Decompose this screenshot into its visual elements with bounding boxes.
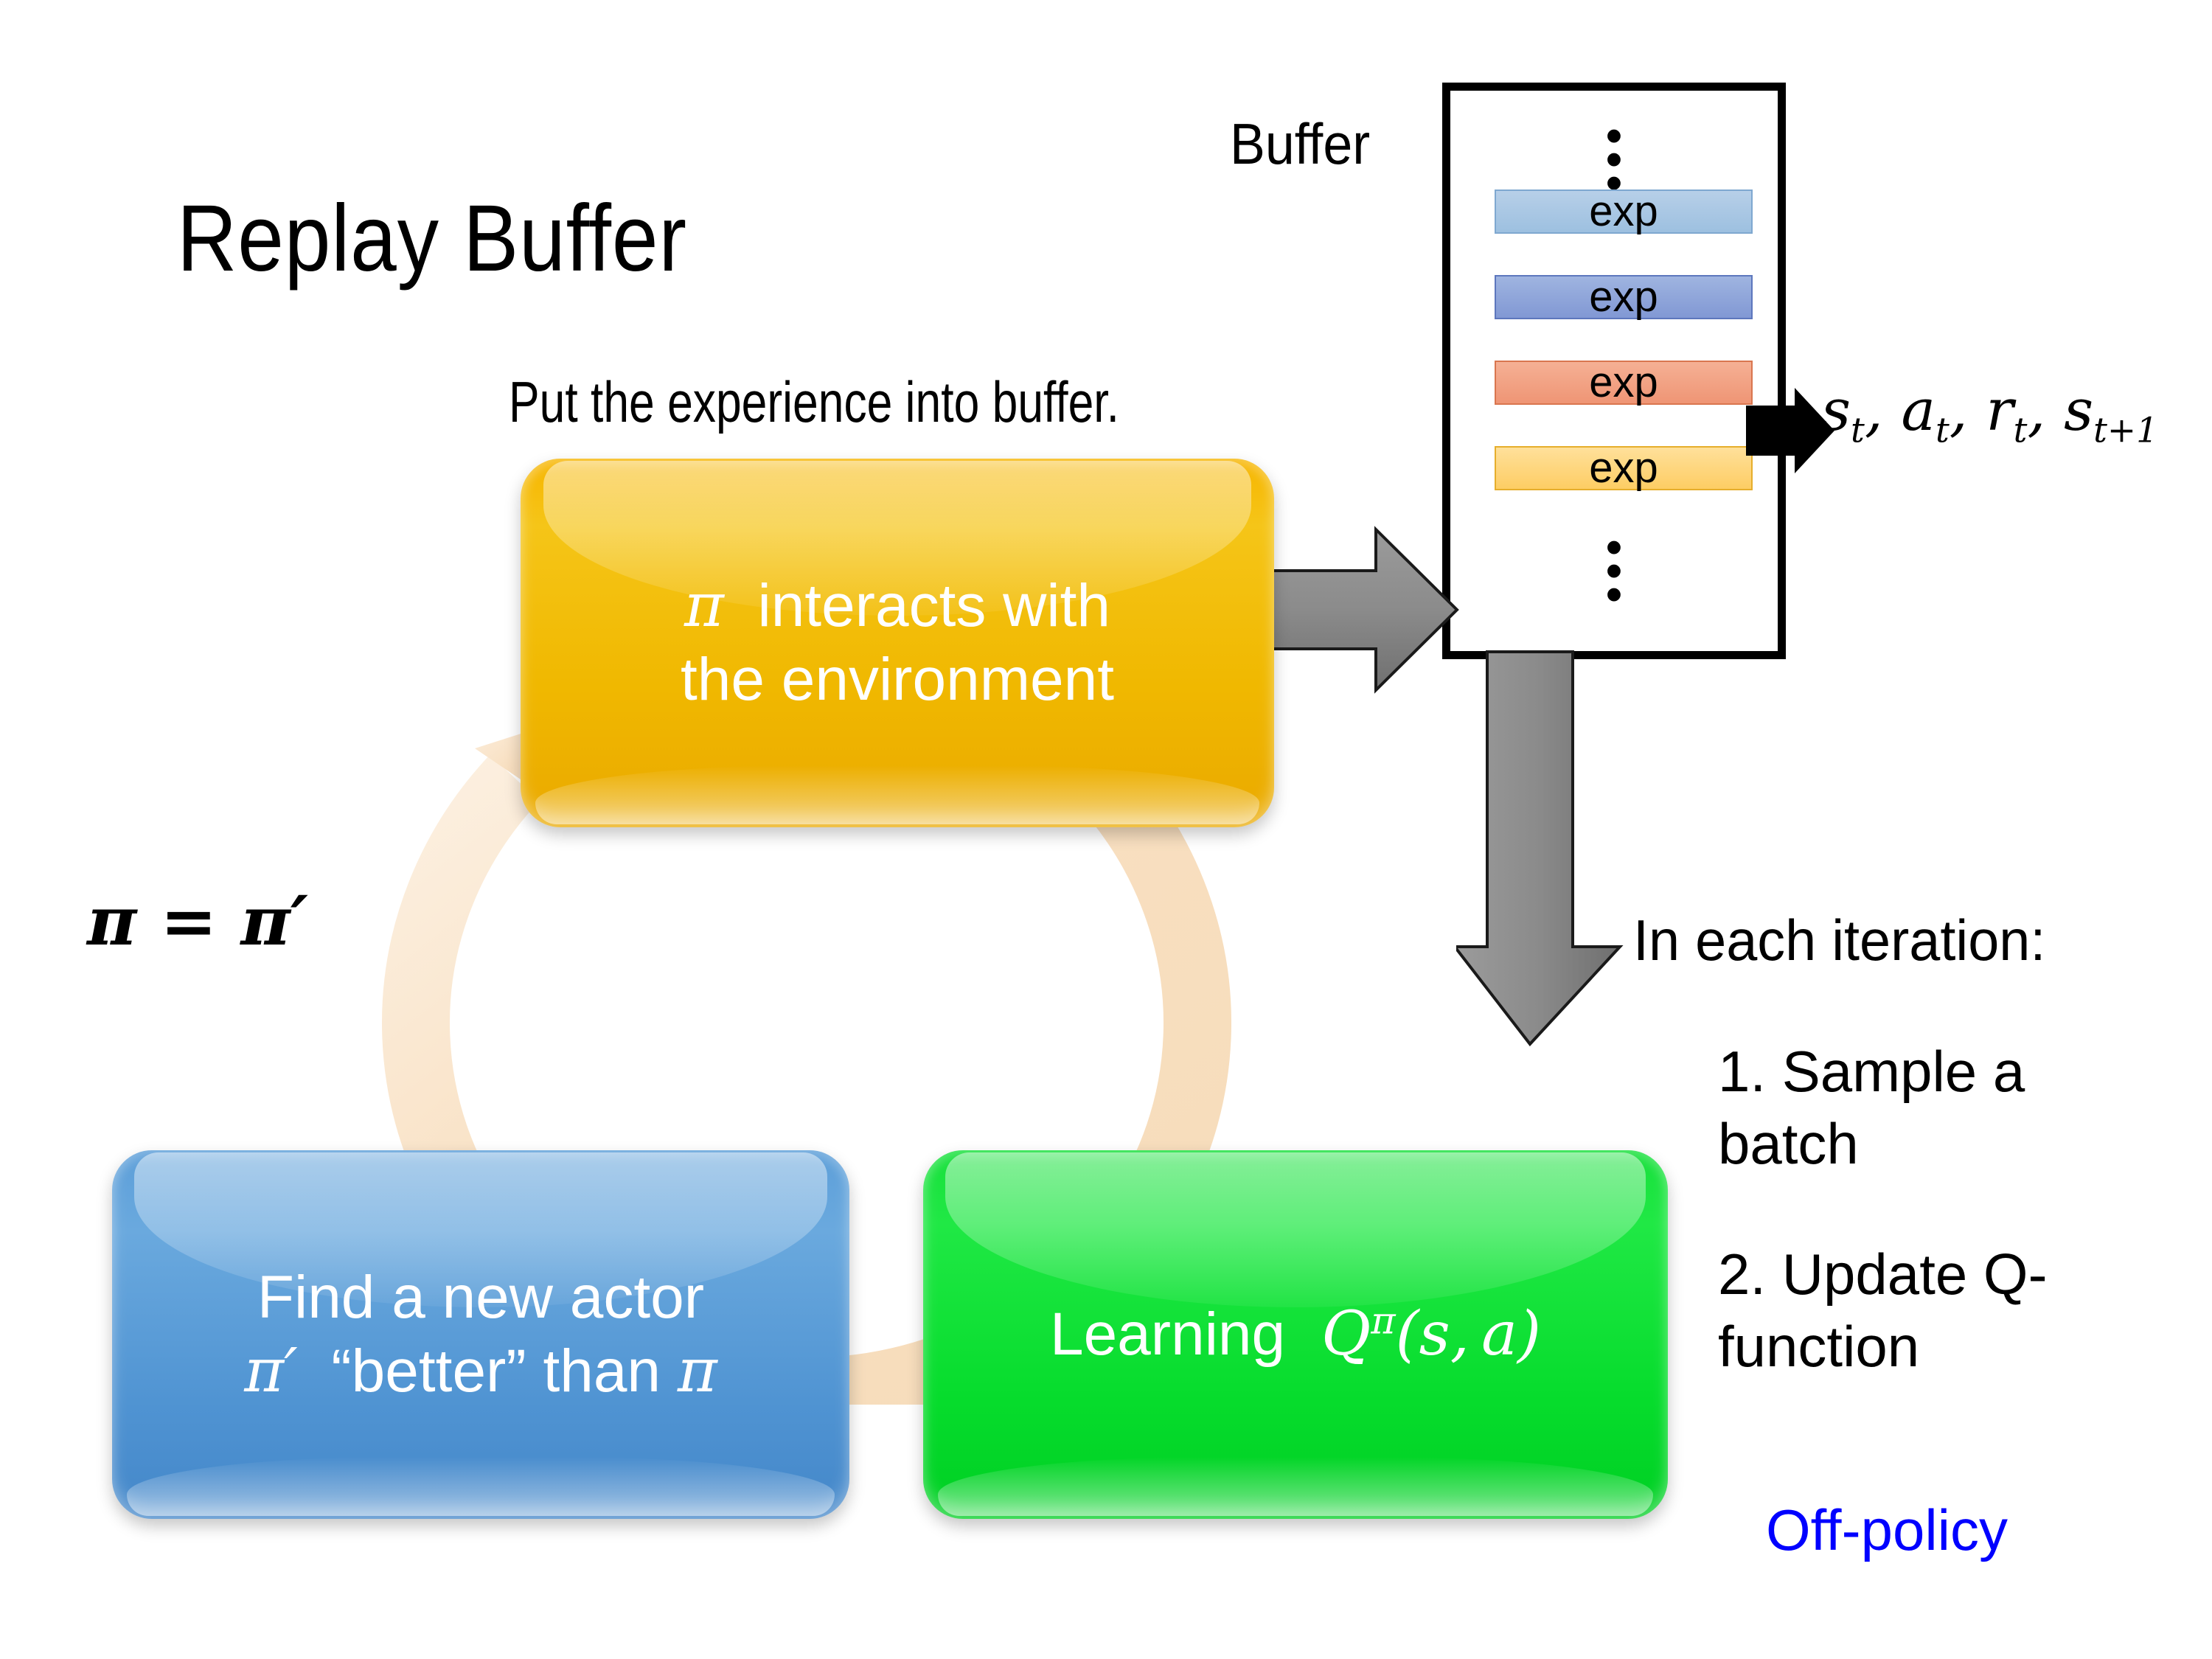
pi-symbol: π <box>684 571 724 641</box>
buffer-entry[interactable]: exp <box>1495 361 1753 405</box>
iteration-step-1: 1. Sample a batch <box>1718 1036 2160 1180</box>
slide-canvas: Replay Buffer Put the experience into bu… <box>0 0 2212 1659</box>
buffer-entry[interactable]: exp <box>1495 275 1753 319</box>
buffer-entry[interactable]: exp <box>1495 446 1753 490</box>
replay-buffer-box: ••• exp exp exp exp ••• <box>1442 83 1786 659</box>
blue-box-line1: Find a new actor <box>257 1264 704 1331</box>
vertical-ellipsis-icon-top: ••• <box>1450 125 1778 196</box>
iteration-heading: In each iteration: <box>1633 907 2045 974</box>
gold-box-line1-rest: interacts with <box>741 572 1110 639</box>
pi-equals-formula: π = π′ <box>87 881 308 961</box>
blue-box-line2-rest: “better” than <box>315 1338 678 1405</box>
iteration-step-2: 2. Update Q-function <box>1718 1239 2175 1382</box>
sampled-tuple-formula: st, at, rt, st+1 <box>1821 378 2158 451</box>
pi-symbol-2: π <box>678 1336 717 1406</box>
buffer-label: Buffer <box>1230 111 1370 178</box>
node-pi-interacts-environment[interactable]: π interacts with the environment <box>521 459 1274 827</box>
put-experience-caption: Put the experience into buffer. <box>509 369 1119 436</box>
page-title: Replay Buffer <box>177 184 687 293</box>
node-find-new-actor[interactable]: Find a new actor π′ “better” than π <box>112 1150 849 1519</box>
off-policy-badge: Off-policy <box>1766 1497 2008 1564</box>
arrow-down-icon <box>1456 649 1626 1047</box>
arrow-right-icon <box>1253 525 1460 695</box>
buffer-entry[interactable]: exp <box>1495 189 1753 234</box>
pi-prime-symbol: π′ <box>244 1336 298 1406</box>
green-box-label: Learning <box>1050 1301 1285 1368</box>
q-pi-formula: Qπ(s, a) <box>1302 1299 1541 1369</box>
node-learning-q-function[interactable]: Learning Qπ(s, a) <box>923 1150 1668 1519</box>
gold-box-line2: the environment <box>681 646 1114 713</box>
vertical-ellipsis-icon-bottom: ••• <box>1450 536 1778 608</box>
